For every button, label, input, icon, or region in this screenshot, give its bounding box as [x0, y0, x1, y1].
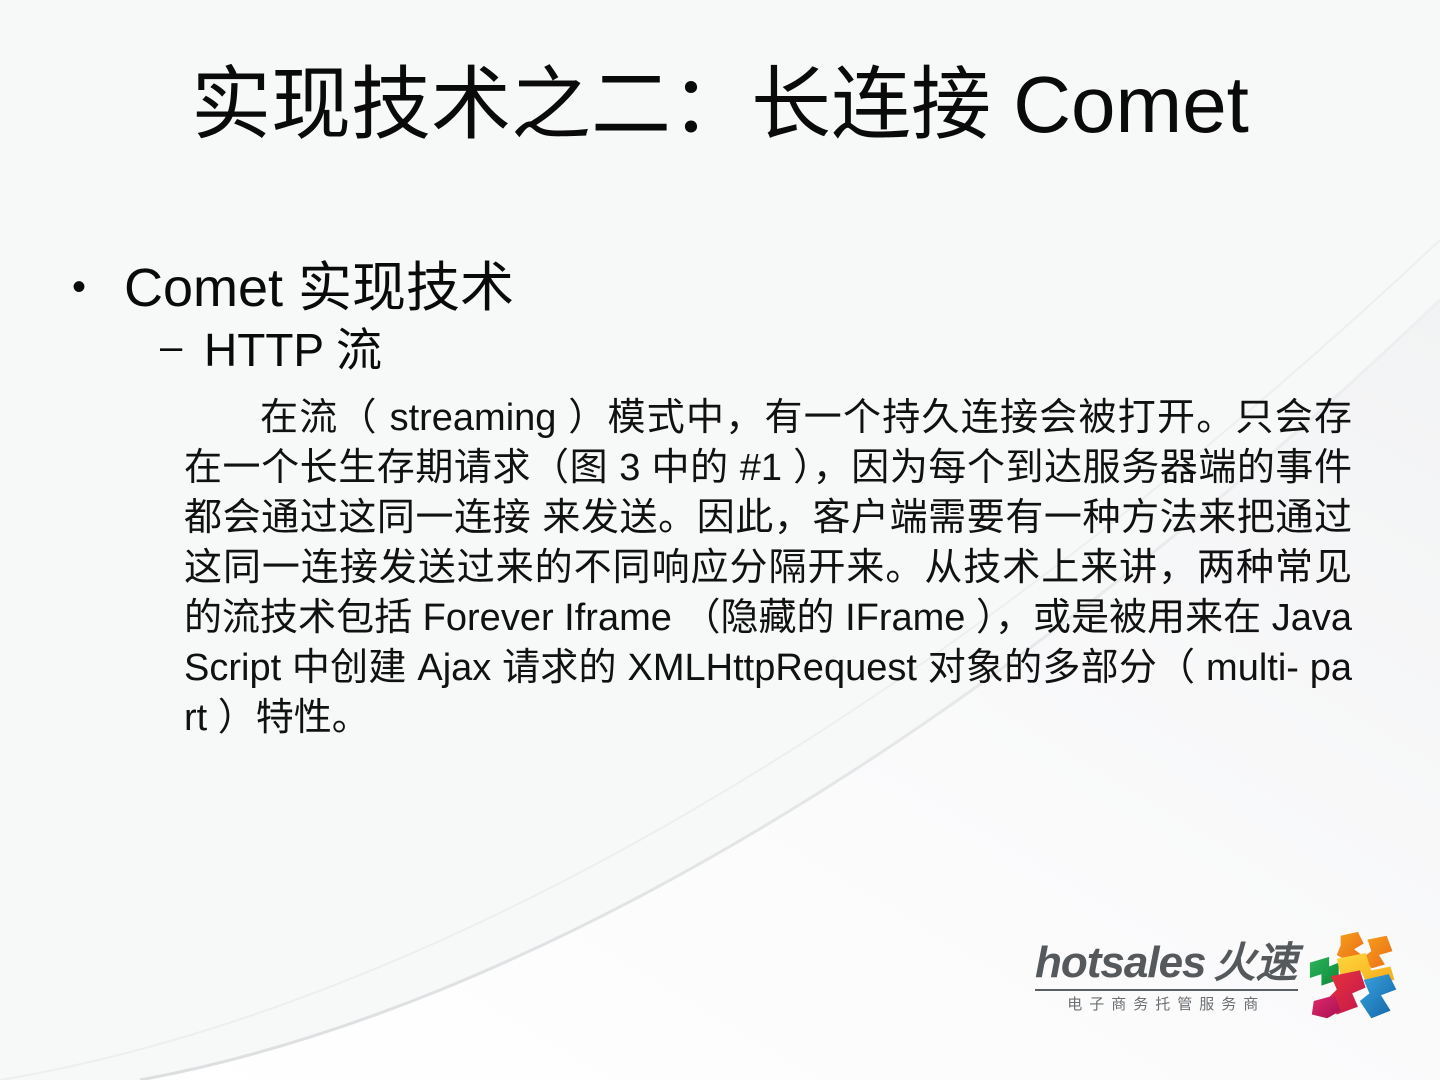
slide-body: • Comet 实现技术 – HTTP 流 在流（ streaming ）模式中…: [72, 258, 1372, 781]
presentation-slide: 实现技术之二：长连接 Comet • Comet 实现技术 – HTTP 流 在…: [0, 0, 1440, 1080]
bullet-level2: – HTTP 流: [72, 324, 1372, 376]
logo-main-line: hotsales 火速: [1035, 941, 1298, 991]
logo-wordmark: hotsales 火速 电子商务托管服务商: [1035, 941, 1298, 1012]
bullet-level1-label: Comet 实现技术: [124, 258, 1372, 318]
bullet-level1: • Comet 实现技术: [72, 258, 1372, 318]
bullet-marker-icon: •: [72, 258, 124, 316]
company-logo: hotsales 火速 电子商务托管服务商: [1035, 930, 1404, 1022]
logo-brand-en: hotsales: [1035, 941, 1206, 985]
running-figure-icon: [1308, 930, 1404, 1022]
logo-brand-cn: 火速: [1214, 942, 1298, 984]
slide-title: 实现技术之二：长连接 Comet: [60, 62, 1380, 148]
dash-marker-icon: –: [160, 324, 204, 371]
logo-tagline: 电子商务托管服务商: [1035, 997, 1298, 1012]
bullet-level2-label: HTTP 流: [204, 324, 1372, 376]
body-paragraph: 在流（ streaming ）模式中，有一个持久连接会被打开。只会存在一个长生存…: [72, 393, 1372, 743]
